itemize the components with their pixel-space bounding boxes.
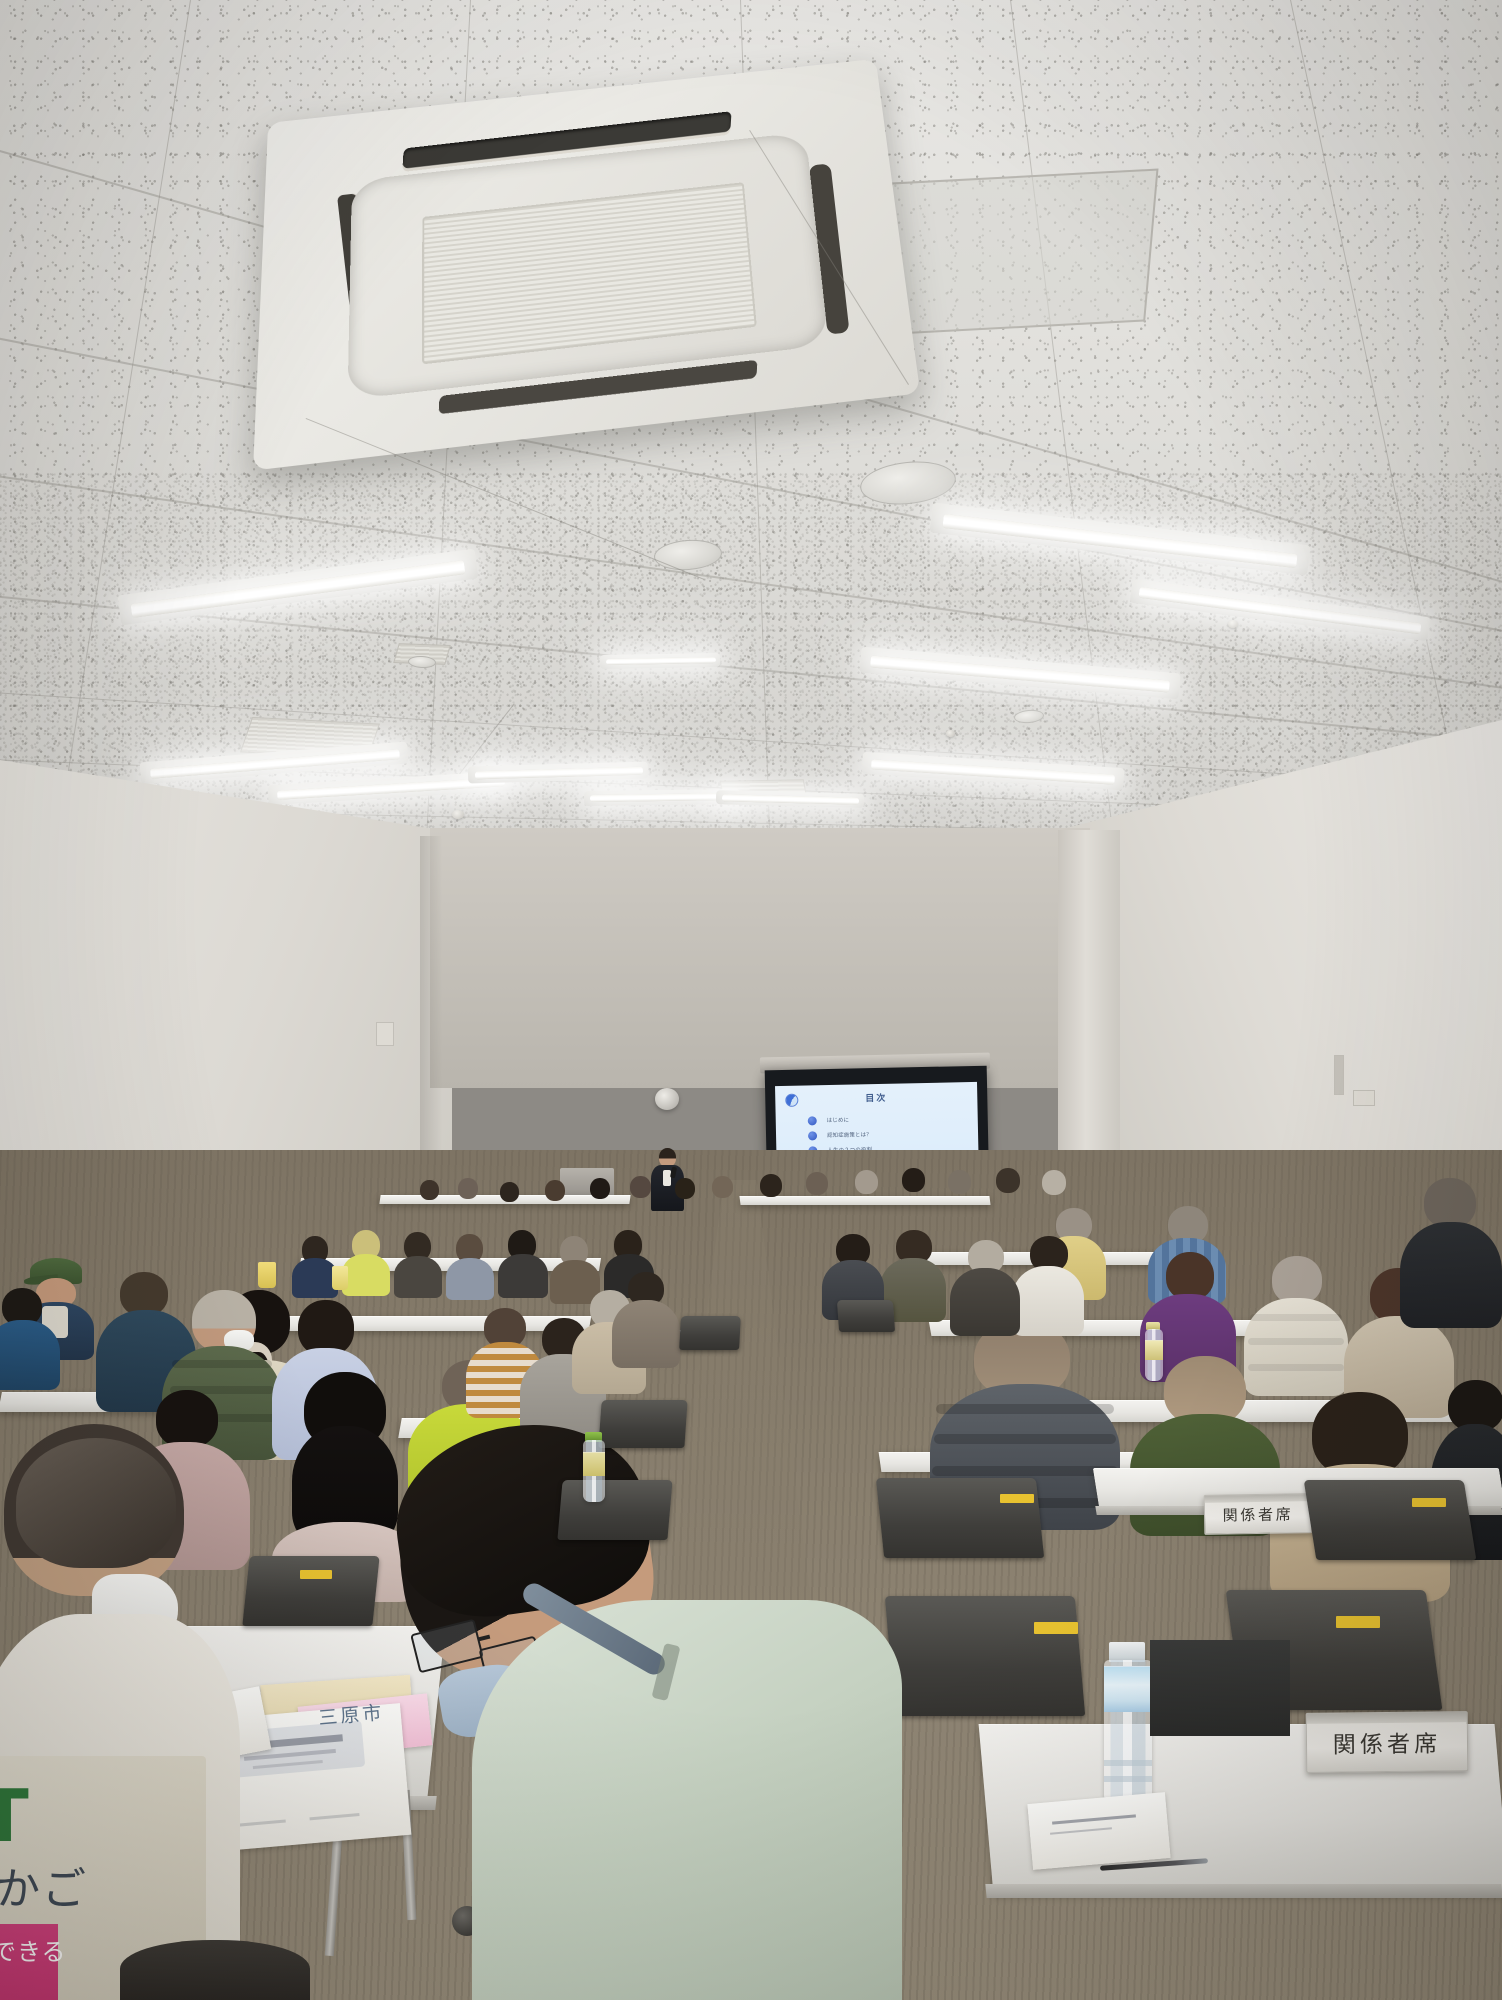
sprinkler-head [1228,620,1238,628]
attendee-body [612,1300,680,1368]
puffer-seam [1248,1338,1344,1345]
attendee-body [950,1268,1020,1336]
attendee-head [948,1170,971,1194]
attendee-head [806,1172,828,1195]
bullet-icon [808,1131,817,1140]
wall-speaker [655,1088,679,1110]
tote-brand-text: iT [0,1774,28,1858]
bottle-ridge [1104,1776,1152,1782]
reserved-seat-sign: 関係者席 [1204,1493,1313,1535]
wall-outlet-plate[interactable] [1353,1090,1375,1106]
quilt-seam [932,1466,1118,1476]
attendee-head [420,1180,439,1200]
chair-label-tag [1336,1616,1380,1628]
chair-label-tag [1000,1494,1034,1503]
conference-table [739,1196,990,1205]
slide-title: 目次 [775,1089,977,1106]
attendee-head [1272,1256,1322,1304]
table-edge [985,1884,1502,1898]
back-wall [430,828,1090,1088]
attendee-body [1012,1266,1084,1336]
attendee-body [394,1256,442,1298]
attendee-head [545,1180,565,1201]
handout-paper[interactable] [1027,1792,1170,1870]
attendee-foreground-shoulder [120,1940,310,2000]
stacking-chair [885,1596,1085,1716]
stacking-chair [679,1316,741,1350]
attendee-body [1400,1222,1502,1328]
chair-label-tag [300,1570,332,1579]
grey-hair [16,1438,176,1568]
chair-label-tag [1412,1498,1446,1507]
sprinkler-head [452,810,464,819]
attendee-taupe [612,1272,680,1368]
attendee-head [675,1178,695,1199]
puffer-seam [1250,1314,1342,1321]
bottle-label [583,1452,605,1476]
attendee-body [342,1254,390,1296]
attendee-head [855,1170,878,1194]
chair-back-behind-table [1150,1640,1290,1736]
slide-agenda-label: はじめに [827,1116,850,1124]
bottle-label [1104,1666,1152,1712]
attendee-head [458,1178,478,1199]
jacket-seam [172,1360,272,1368]
attendee-head [712,1176,733,1198]
handout-footer-text [309,1813,359,1820]
attendee-head [902,1168,925,1192]
attendee-head [760,1174,782,1197]
quilt-seam [936,1404,1114,1414]
ceiling [0,0,1502,860]
sprinkler-head [946,730,955,737]
yellow-cup[interactable] [332,1266,348,1290]
attendee-head [630,1176,651,1198]
attendee-dark-grey [950,1240,1020,1336]
attendee-white-sweater [1012,1236,1084,1336]
yellow-cup[interactable] [258,1262,276,1288]
attendee-body [446,1258,494,1300]
quilt-seam [934,1434,1116,1444]
attendee-head [1424,1178,1476,1228]
attendee-body [472,1600,902,2000]
tote-pink-text-line1: 実感できる [0,1938,67,1966]
attendee-body [498,1254,548,1298]
attendee-head [1042,1170,1066,1195]
sign-top-cap [1307,1712,1467,1724]
attendee-head [590,1178,610,1199]
sign-top-cap [1205,1494,1311,1503]
reserved-seat-label: 関係者席 [1222,1503,1293,1525]
slide-agenda-label: 認知症施策とは？ [827,1130,872,1139]
reserved-seat-sign: 関係者席 [1306,1711,1469,1773]
attendee-head [1166,1252,1214,1300]
stacking-chair [837,1300,895,1332]
stacking-chair [598,1400,687,1448]
attendee-head [996,1168,1020,1193]
stacking-chair [242,1556,379,1626]
bottle-cap [1109,1642,1145,1662]
attendee-left-front [0,1280,60,1390]
bottle-label [1145,1340,1163,1360]
attendee-black-jacket [1400,1178,1502,1328]
bullet-icon [808,1116,817,1125]
stacking-chair [1304,1480,1477,1560]
reserved-seat-label: 関係者席 [1333,1724,1442,1759]
attendee-body [0,1320,60,1390]
ceiling-access-hatch [877,169,1158,336]
tote-headline-text: のかご [0,1866,88,1914]
seminar-room-photo: 目次 はじめに 認知症施策とは？ 人生の２つの役割 地域を明るく生きるためのサポ… [0,0,1502,2000]
stacking-chair [557,1480,672,1540]
wall-switch-plate[interactable] [376,1022,394,1046]
wall-trim [1334,1055,1344,1095]
bottle-ridge [1104,1760,1152,1766]
chair-label-tag [1034,1622,1078,1634]
attendee-head [500,1182,519,1202]
ceiling-air-conditioner [262,78,902,428]
